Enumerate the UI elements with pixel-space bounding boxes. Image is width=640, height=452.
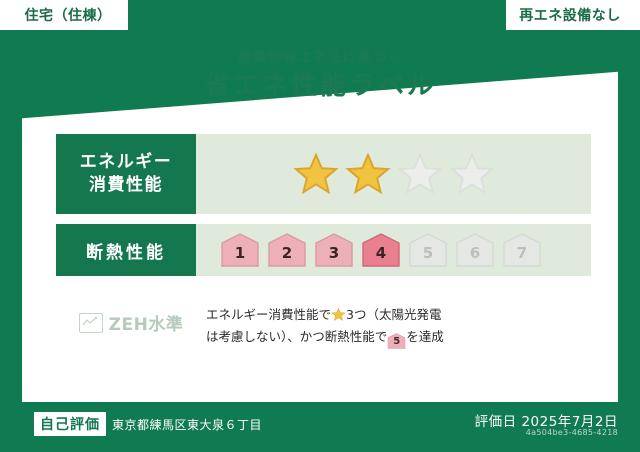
zeh-badge: ZEH水準 [56,304,206,335]
energy-consumption-label: エネルギー 消費性能 [56,134,196,214]
tab-building-type-label: 住宅（住棟） [25,5,112,25]
inline-grade-value: 5 [387,333,406,350]
evaluation-id: 4a504be3-4685-4218 [526,428,618,437]
inline-star-icon [331,307,346,322]
tab-building-type[interactable]: 住宅（住棟） [0,0,128,30]
zeh-desc-star-count: 3つ（太陽光発電 [346,307,441,322]
insulation-grade-value: 3 [329,244,339,267]
zeh-desc-part3: を達成 [406,329,444,344]
star-filled-icon [345,151,391,197]
tab-renewable-equipment[interactable]: 再エネ設備なし [506,0,640,30]
insulation-grade-5: 5 [408,233,448,267]
zeh-description: エネルギー消費性能で 3つ（太陽光発電 は考慮しない）、かつ断熱性能で 5 を達… [206,304,591,349]
insulation-performance-row: 断熱性能 1234567 [56,224,591,276]
insulation-grade-1: 1 [220,233,260,267]
insulation-grade-3: 3 [314,233,354,267]
insulation-performance-label-text: 断熱性能 [86,238,166,263]
inline-grade-badge: 5 [387,333,406,349]
insulation-grade-2: 2 [267,233,307,267]
insulation-grade-value: 5 [423,244,433,267]
insulation-performance-label: 断熱性能 [56,224,196,276]
star-rating [293,151,495,197]
insulation-grade-value: 7 [517,244,527,267]
star-empty-icon [449,151,495,197]
self-evaluation-badge: 自己評価 [34,412,106,436]
footer: 自己評価 東京都練馬区東大泉６丁目 評価日 2025年7月2日 4a504be3… [0,402,640,452]
energy-consumption-row: エネルギー 消費性能 [56,134,591,214]
label-card: エネルギー 消費性能 断熱性能 1234567 [34,118,609,396]
energy-consumption-label-line1: エネルギー [80,151,173,174]
zeh-standard-row: ZEH水準 エネルギー消費性能で 3つ（太陽光発電 は考慮しない）、かつ断熱性能… [56,304,591,349]
insulation-grade-6: 6 [455,233,495,267]
header: 建築物省エネ法に基づく 省エネ性能ラベル [0,50,640,104]
energy-consumption-label-line2: 消費性能 [89,174,163,197]
star-empty-icon [397,151,443,197]
insulation-grade-scale: 1234567 [220,233,542,267]
zeh-desc-part1: エネルギー消費性能で [206,307,331,322]
star-filled-icon [293,151,339,197]
insulation-grade-7: 7 [502,233,542,267]
evaluation-date-label: 評価日 [475,414,517,430]
insulation-grade-value: 1 [235,244,245,267]
energy-performance-label: 住宅（住棟） 再エネ設備なし 建築物省エネ法に基づく 省エネ性能ラベル エネルギ… [0,0,640,452]
tab-renewable-equipment-label: 再エネ設備なし [519,5,621,25]
zeh-mark-label: ZEH水準 [109,310,184,335]
insulation-grade-value: 4 [376,244,386,267]
insulation-performance-value: 1234567 [196,224,591,276]
insulation-grade-value: 6 [470,244,480,267]
insulation-grade-value: 2 [282,244,292,267]
zeh-mark-icon [79,313,103,333]
address-text: 東京都練馬区東大泉６丁目 [112,416,262,433]
insulation-grade-4: 4 [361,233,401,267]
page-title: 省エネ性能ラベル [0,69,640,104]
energy-consumption-value [196,134,591,214]
header-subtitle: 建築物省エネ法に基づく [0,50,640,67]
zeh-desc-part2: は考慮しない）、かつ断熱性能で [206,329,387,344]
evaluation-date: 評価日 2025年7月2日 [475,410,618,430]
